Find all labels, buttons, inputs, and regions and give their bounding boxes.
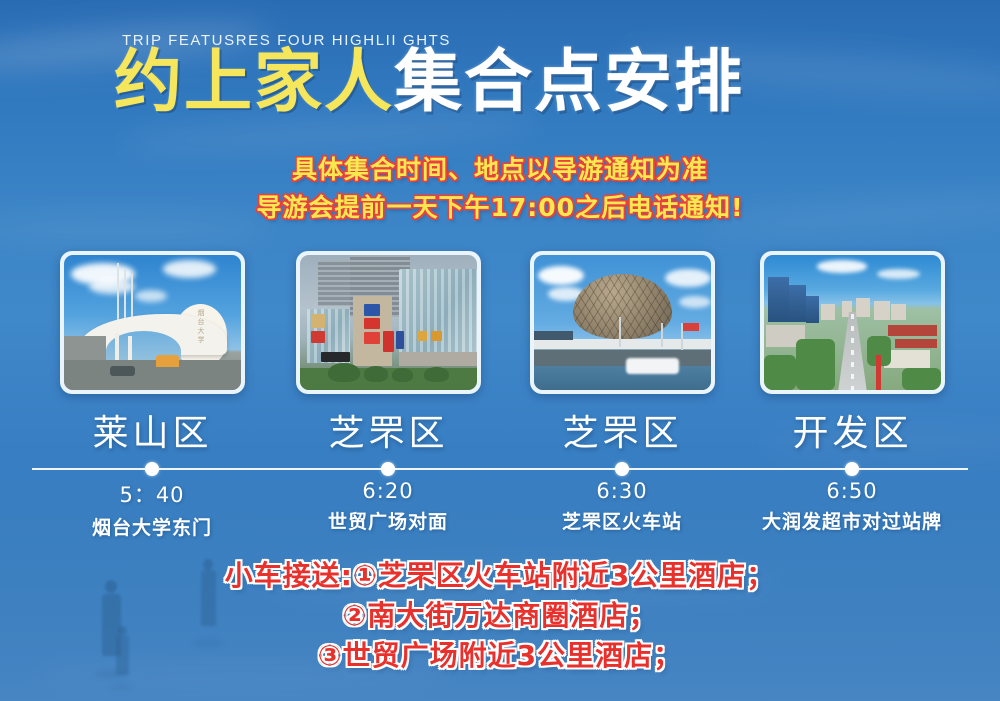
shuttle-note-line-2: ②南大街万达商圈酒店； bbox=[0, 596, 1000, 636]
timeline-stop: 6:50 大润发超市对过站牌 bbox=[737, 479, 967, 534]
timeline-dot bbox=[615, 462, 629, 476]
shuttle-note-line-3: ③世贸广场附近3公里酒店； bbox=[0, 636, 1000, 676]
timeline-place: 芝罘区火车站 bbox=[507, 507, 737, 534]
district-label: 芝罘区 bbox=[296, 404, 481, 456]
travel-gathering-point-poster: TRIP FEATUSRES FOUR HIGHLII GHTS 约上家人集合点… bbox=[0, 0, 1000, 701]
timeline-place: 烟台大学东门 bbox=[37, 513, 267, 540]
shuttle-note-line-1: 小车接送:①芝罘区火车站附近3公里酒店； bbox=[0, 556, 1000, 596]
page-title-highlight: 约上家人 bbox=[114, 43, 394, 122]
subtitle-line-1: 具体集合时间、地点以导游通知为准 bbox=[0, 150, 1000, 186]
district-label: 芝罘区 bbox=[530, 404, 715, 456]
yantai-university-gate-photo: 烟台大学 bbox=[64, 255, 241, 390]
timeline-stop: 5：40 烟台大学东门 bbox=[37, 479, 267, 540]
timeline-time: 5：40 bbox=[37, 479, 267, 509]
photo-card bbox=[296, 251, 481, 394]
timeline-place: 世贸广场对面 bbox=[273, 507, 503, 534]
timeline-stop: 6:30 芝罘区火车站 bbox=[507, 479, 737, 534]
timeline-place: 大润发超市对过站牌 bbox=[737, 507, 967, 534]
district-label-row: 莱山区 芝罘区 芝罘区 开发区 bbox=[0, 404, 1000, 452]
timeline-time: 6:20 bbox=[273, 479, 503, 503]
timeline-time: 6:50 bbox=[737, 479, 967, 503]
photo-card: 烟台大学 bbox=[60, 251, 245, 394]
timeline-dot bbox=[145, 462, 159, 476]
development-zone-aerial-photo bbox=[764, 255, 941, 390]
shuttle-notes: 小车接送:①芝罘区火车站附近3公里酒店； ②南大街万达商圈酒店； ③世贸广场附近… bbox=[0, 556, 1000, 675]
subtitle-line-2: 导游会提前一天下午17:00之后电话通知! bbox=[0, 188, 1000, 224]
timeline-axis bbox=[32, 468, 968, 470]
timeline-dot bbox=[381, 462, 395, 476]
photo-card bbox=[530, 251, 715, 394]
page-title-main: 集合点安排 bbox=[394, 43, 744, 122]
timeline-stop: 6:20 世贸广场对面 bbox=[273, 479, 503, 534]
page-title: 约上家人集合点安排 bbox=[114, 48, 744, 117]
photo-card bbox=[760, 251, 945, 394]
shimao-plaza-photo bbox=[300, 255, 477, 390]
zhifu-railway-station-photo bbox=[534, 255, 711, 390]
photo-card-row: 烟台大学 bbox=[0, 251, 1000, 396]
district-label: 莱山区 bbox=[60, 404, 245, 456]
pickup-timeline: 5：40 烟台大学东门 6:20 世贸广场对面 6:30 芝罘区火车站 6:50… bbox=[0, 455, 1000, 535]
timeline-time: 6:30 bbox=[507, 479, 737, 503]
district-label: 开发区 bbox=[760, 404, 945, 456]
timeline-dot bbox=[845, 462, 859, 476]
